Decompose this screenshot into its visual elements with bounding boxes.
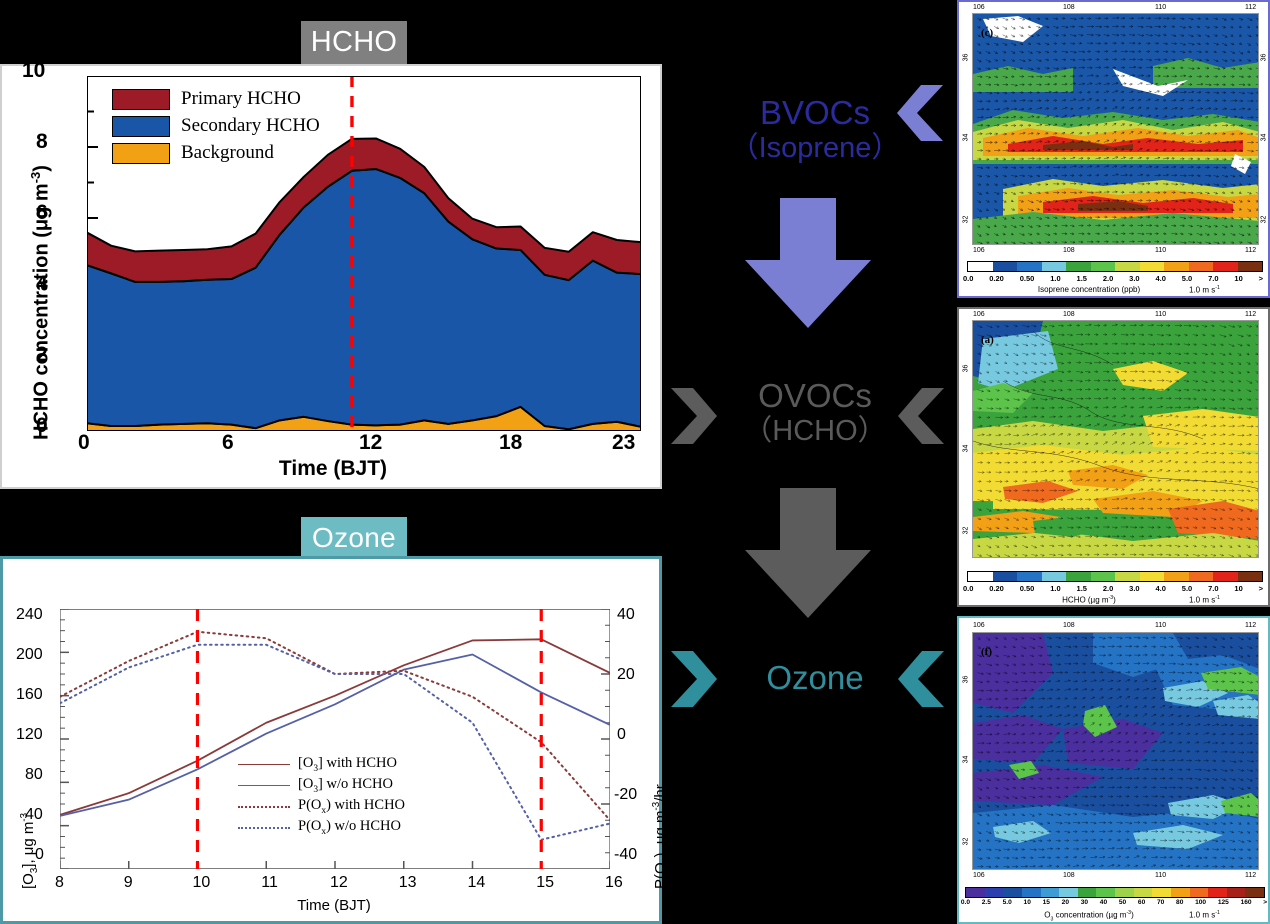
colorbar-tick: 0.50 [1012, 274, 1042, 283]
legend-item: [O3] w/o HCHO [238, 776, 405, 795]
hcho-chart-badge: HCHO [301, 21, 407, 64]
map-lat-tick: 36 [962, 54, 969, 62]
legend-item: Primary HCHO [112, 88, 320, 110]
colorbar-tick: 4.0 [1148, 584, 1174, 593]
colorbar-tick: 30 [1075, 899, 1094, 906]
legend-key-o3-with [238, 758, 290, 770]
map-lon-tick: 110 [1155, 872, 1166, 879]
map-lon-tick: 110 [1155, 4, 1166, 11]
chevron-right-ovocs-icon [671, 388, 717, 444]
isoprene-wind-scale: 1.0 m s-1 [1189, 285, 1220, 295]
map-lon-tick: 106 [973, 311, 985, 318]
colorbar-tick: 5.0 [1174, 584, 1200, 593]
colorbar-tick: 2.0 [1095, 584, 1121, 593]
colorbar-tick: 7.0 [1200, 274, 1226, 283]
map-lon-tick: 110 [1155, 311, 1166, 318]
colorbar-tick: 3.0 [1121, 584, 1147, 593]
map-lon-tick: 108 [1063, 872, 1075, 879]
ozone-map-panel: (f) 106 108 110 112 106 108 110 112 36 3… [957, 616, 1270, 924]
map-lat-tick: 36 [962, 676, 969, 684]
map-lat-tick: 34 [962, 134, 969, 142]
hcho-legend: Primary HCHO Secondary HCHO Background [112, 88, 320, 169]
isoprene-colorbar [967, 261, 1263, 272]
ozone-colorbar [965, 887, 1265, 898]
ozone-map-frame: (f) [972, 632, 1259, 870]
map-lon-tick: 112 [1245, 872, 1256, 879]
chevron-left-ovocs-icon [898, 388, 944, 444]
ozone-badge-label: Ozone [312, 522, 396, 554]
colorbar-tick: 40 [1094, 899, 1113, 906]
map-lat-tick: 34 [962, 756, 969, 764]
colorbar-tick: 1.0 [1042, 584, 1068, 593]
legend-key-pox-wo [238, 821, 290, 833]
ozone-colorbar-ticks: 0.02.55.0101520304050607080100125160> [955, 899, 1270, 906]
hcho-map-panel: (a) 106 108 110 112 36 34 32 0.00.200.50… [957, 307, 1270, 607]
chevron-left-ozone-icon [898, 651, 944, 707]
colorbar-tick: 7.0 [1200, 584, 1226, 593]
ozone-x-tick: 8 [55, 874, 64, 892]
colorbar-tick: 60 [1132, 899, 1151, 906]
ozone-x-tick: 12 [330, 874, 348, 892]
colorbar-tick: 0.0 [955, 584, 981, 593]
hcho-x-axis-label: Time (BJT) [2, 457, 664, 481]
colorbar-tick: 0.0 [955, 274, 981, 283]
colorbar-tick: 5.0 [1174, 274, 1200, 283]
colorbar-tick: 70 [1151, 899, 1170, 906]
ozone-chart-badge: Ozone [301, 517, 407, 559]
map-lon-tick: 106 [973, 872, 985, 879]
legend-label: P(Ox) w/o HCHO [298, 818, 401, 837]
chevron-left-bvocs-icon [897, 85, 943, 141]
ozone-x-tick: 9 [124, 874, 133, 892]
colorbar-tick: 50 [1113, 899, 1132, 906]
ozone-x-tick: 10 [193, 874, 211, 892]
legend-label: Background [181, 142, 274, 164]
legend-label: [O3] w/o HCHO [298, 776, 393, 795]
colorbar-tick: > [1251, 584, 1270, 593]
colorbar-tick: 1.5 [1069, 274, 1095, 283]
legend-swatch-background [112, 143, 170, 164]
map-lon-tick: 112 [1245, 311, 1256, 318]
hcho-colorbar-caption: HCHO (µg m-3) [959, 595, 1219, 605]
map-lat-tick: 36 [1260, 54, 1267, 62]
colorbar-tick: 10 [1226, 584, 1250, 593]
map-lat-tick: 32 [1260, 216, 1267, 224]
isoprene-field: (c) [973, 14, 1259, 245]
ozone-panel-tag: (f) [981, 646, 992, 658]
colorbar-tick: 0.0 [955, 899, 976, 906]
map-lon-tick: 106 [973, 247, 985, 254]
legend-label: Secondary HCHO [181, 115, 320, 137]
hcho-panel-tag: (a) [981, 334, 994, 346]
map-lon-tick: 110 [1155, 622, 1166, 629]
ozone-x-tick: 11 [261, 874, 278, 892]
map-lat-tick: 34 [962, 445, 969, 453]
legend-key-o3-wo [238, 779, 290, 791]
ozone-colorbar-caption: O3 concentration (µg m-3) [959, 910, 1219, 922]
ozone-line-chart: [O3], μg m-3 P(Ox), μg m-3/hr 0 40 80 12… [0, 556, 662, 924]
colorbar-tick: 15 [1037, 899, 1056, 906]
colorbar-tick: > [1251, 274, 1270, 283]
colorbar-tick: 160 [1235, 899, 1258, 906]
map-lat-tick: 32 [962, 527, 969, 535]
ozone-right-y-label: P(Ox), μg m-3/hr [651, 784, 672, 889]
map-lon-tick: 112 [1245, 622, 1256, 629]
map-lon-tick: 108 [1063, 311, 1075, 318]
isoprene-map-frame: (c) [972, 13, 1259, 245]
colorbar-tick: 10 [1018, 899, 1037, 906]
map-lon-tick: 106 [973, 4, 985, 11]
colorbar-tick: 5.0 [997, 899, 1018, 906]
colorbar-tick: 125 [1212, 899, 1235, 906]
hcho-field: (a) [973, 321, 1259, 558]
legend-item: Secondary HCHO [112, 115, 320, 137]
ozone-x-tick: 13 [399, 874, 417, 892]
ozone-x-axis-label: Time (BJT) [3, 897, 665, 914]
colorbar-tick: 0.50 [1012, 584, 1042, 593]
colorbar-tick: 80 [1170, 899, 1189, 906]
hcho-colorbar-ticks: 0.00.200.501.01.52.03.04.05.07.010> [955, 584, 1270, 593]
colorbar-tick: 1.0 [1042, 274, 1068, 283]
map-lon-tick: 106 [973, 622, 985, 629]
legend-label: [O3] with HCHO [298, 755, 397, 774]
ozone-legend-box: [O3] with HCHO [O3] w/o HCHO P(Ox) with … [238, 755, 405, 839]
isoprene-map-panel: (c) 106 108 110 112 106 108 110 112 36 3… [957, 0, 1270, 298]
legend-label: Primary HCHO [181, 88, 301, 110]
legend-item: Background [112, 142, 320, 164]
map-lon-tick: 112 [1245, 247, 1256, 254]
hcho-wind-scale: 1.0 m s-1 [1189, 595, 1220, 605]
map-lat-tick: 34 [1260, 134, 1267, 142]
legend-swatch-primary [112, 89, 170, 110]
map-lon-tick: 108 [1063, 4, 1075, 11]
colorbar-tick: 0.20 [981, 584, 1011, 593]
colorbar-tick: 1.5 [1069, 584, 1095, 593]
map-lon-tick: 108 [1063, 622, 1075, 629]
colorbar-tick: 0.20 [981, 274, 1011, 283]
ozone-x-tick: 14 [468, 874, 486, 892]
map-lat-tick: 32 [962, 216, 969, 224]
ozone-x-tick: 16 [605, 874, 623, 892]
legend-item: P(Ox) with HCHO [238, 797, 405, 816]
arrow-down-bvocs-to-ovocs-icon [745, 198, 871, 328]
colorbar-tick: > [1257, 899, 1270, 906]
legend-key-pox-with [238, 800, 290, 812]
map-lon-tick: 108 [1063, 247, 1075, 254]
ozone-x-tick: 15 [536, 874, 554, 892]
map-lon-tick: 112 [1245, 4, 1256, 11]
hcho-area-chart: HCHO concentration (μg m-3) 0 2 4 6 8 10… [0, 64, 662, 489]
legend-item: [O3] with HCHO [238, 755, 405, 774]
colorbar-tick: 3.0 [1121, 274, 1147, 283]
legend-label: P(Ox) with HCHO [298, 797, 405, 816]
ozone-wind-scale: 1.0 m s-1 [1189, 910, 1220, 920]
colorbar-tick: 10 [1226, 274, 1250, 283]
colorbar-tick: 2.0 [1095, 274, 1121, 283]
ozone-field: (f) [973, 633, 1259, 870]
hcho-colorbar [967, 571, 1263, 582]
chevron-right-ozone-icon [671, 651, 717, 707]
map-lon-tick: 110 [1155, 247, 1166, 254]
colorbar-tick: 2.5 [976, 899, 997, 906]
arrow-down-ovocs-to-ozone-icon [745, 488, 871, 618]
colorbar-tick: 100 [1189, 899, 1212, 906]
colorbar-tick: 4.0 [1148, 274, 1174, 283]
legend-swatch-secondary [112, 116, 170, 137]
hcho-map-frame: (a) [972, 320, 1259, 558]
isoprene-colorbar-ticks: 0.00.200.501.01.52.03.04.05.07.010> [955, 274, 1270, 283]
isoprene-colorbar-caption: Isoprene concentration (ppb) [959, 285, 1219, 294]
hcho-badge-label: HCHO [311, 26, 398, 59]
map-lat-tick: 32 [962, 838, 969, 846]
colorbar-tick: 20 [1056, 899, 1075, 906]
map-lat-tick: 36 [962, 365, 969, 373]
isoprene-panel-tag: (c) [981, 27, 994, 39]
legend-item: P(Ox) w/o HCHO [238, 818, 405, 837]
